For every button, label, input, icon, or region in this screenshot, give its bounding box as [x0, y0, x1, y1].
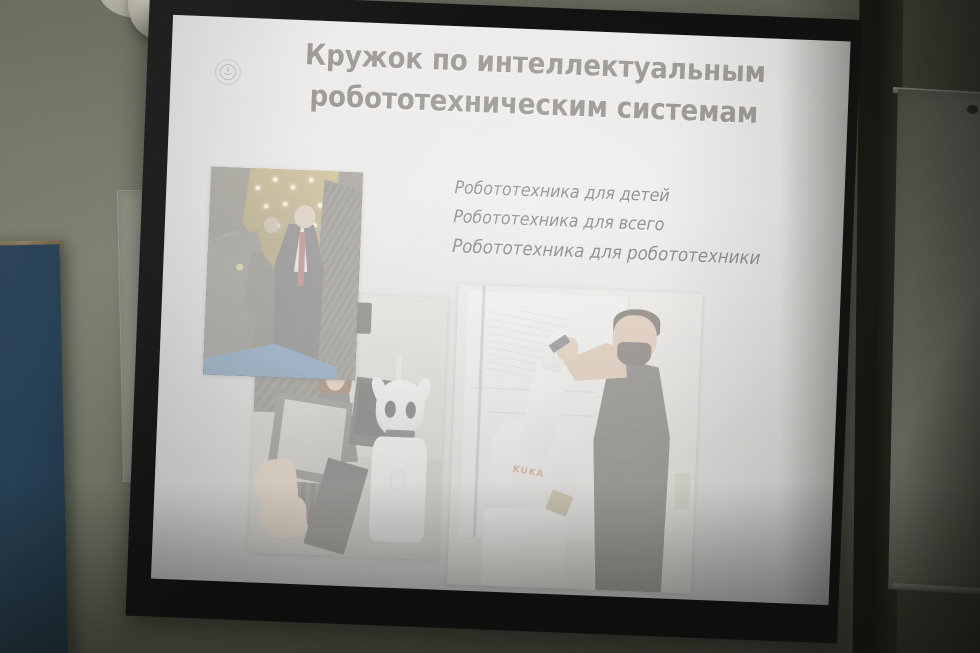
slide-title: Кружок по интеллектуальным робототехниче… — [273, 33, 796, 136]
wall-shadow-bottom — [0, 483, 980, 653]
slide-photo-exhibition-robot — [203, 167, 363, 381]
classroom-scene: Кружок по интеллектуальным робототехниче… — [0, 0, 980, 653]
university-emblem-icon — [214, 59, 241, 86]
slide-subtitle: Робототехника для детей Робототехника дл… — [452, 174, 815, 277]
